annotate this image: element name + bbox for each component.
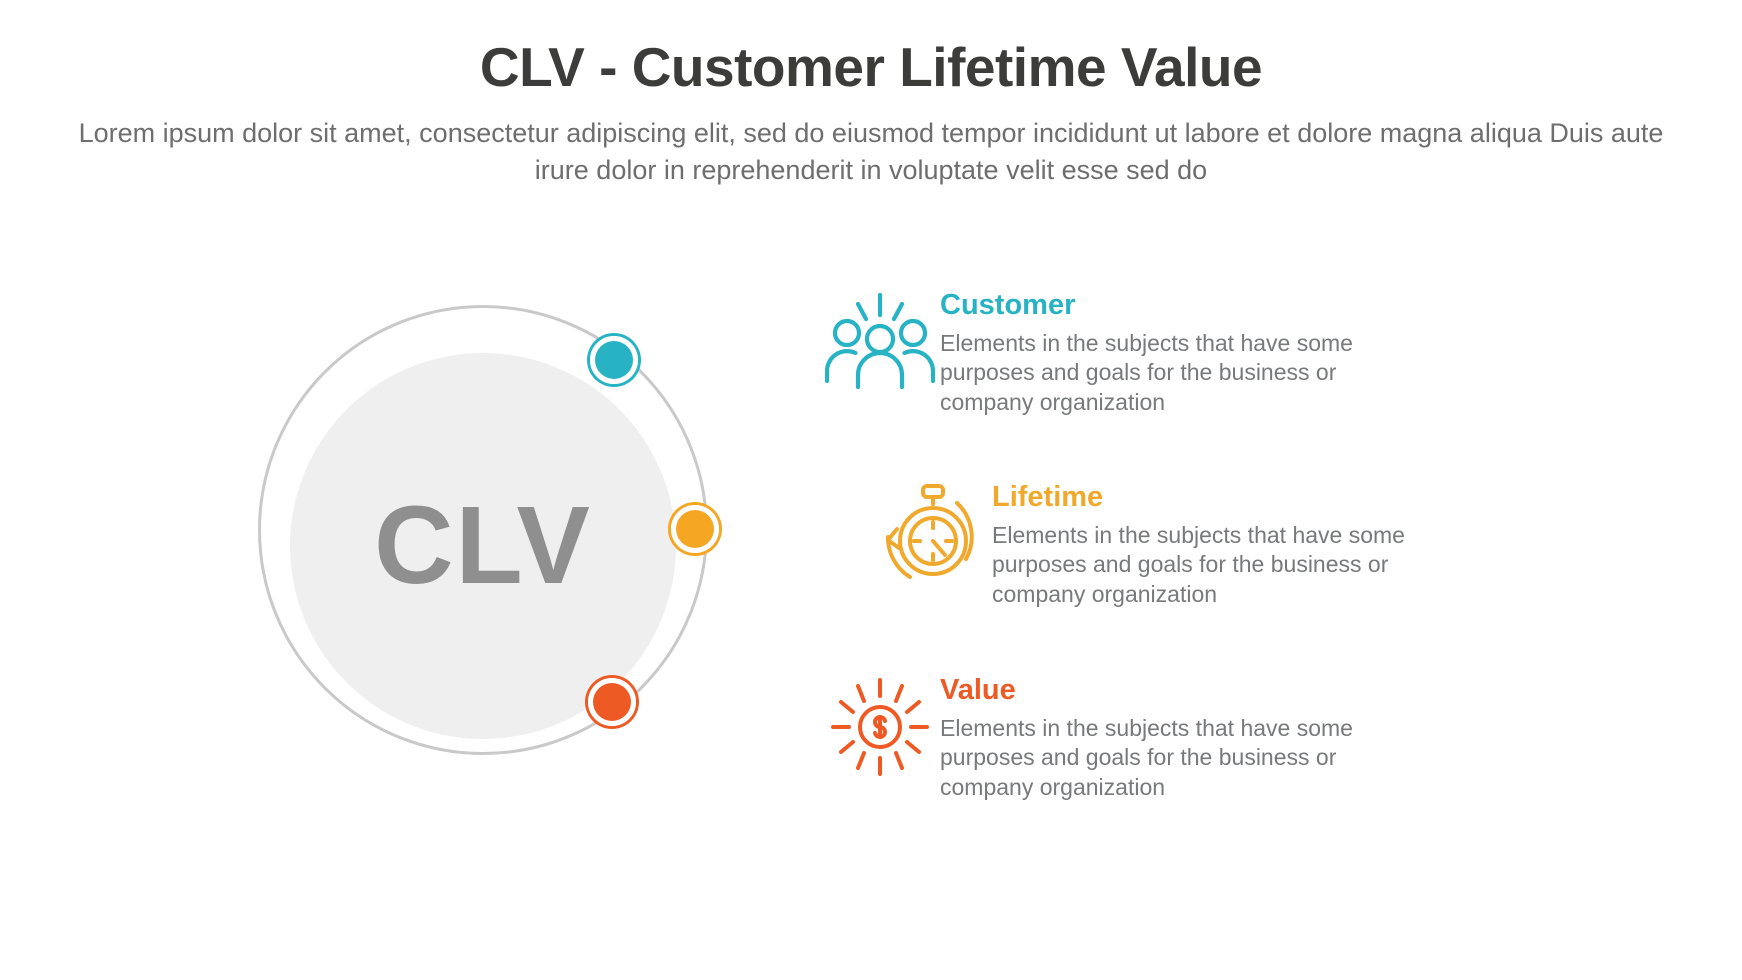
list-item-lifetime[interactable]: Lifetime Elements in the subjects that h… — [872, 474, 1632, 609]
people-group-icon — [820, 282, 940, 402]
infographic-canvas: CLV - Customer Lifetime Value Lorem ipsu… — [0, 0, 1742, 980]
list-item-customer[interactable]: Customer Elements in the subjects that h… — [820, 282, 1580, 417]
item-description: Elements in the subjects that have some … — [940, 329, 1370, 417]
item-text-customer: Customer Elements in the subjects that h… — [940, 282, 1370, 417]
customer-dot-fill — [595, 341, 633, 379]
item-description: Elements in the subjects that have some … — [940, 714, 1370, 802]
item-title: Lifetime — [992, 482, 1422, 514]
page-subtitle: Lorem ipsum dolor sit amet, consectetur … — [71, 115, 1671, 188]
clv-circle-group: CLV — [258, 305, 708, 755]
header: CLV - Customer Lifetime Value Lorem ipsu… — [0, 36, 1742, 188]
value-dot-fill — [593, 683, 631, 721]
page-title: CLV - Customer Lifetime Value — [0, 36, 1742, 99]
lifetime-dot[interactable] — [671, 505, 719, 553]
value-dot[interactable] — [588, 678, 636, 726]
item-text-value: Value Elements in the subjects that have… — [940, 667, 1370, 802]
item-title: Customer — [940, 290, 1370, 322]
center-label: CLV — [374, 491, 592, 601]
item-description: Elements in the subjects that have some … — [992, 521, 1422, 609]
list-item-value[interactable]: Value Elements in the subjects that have… — [820, 667, 1580, 802]
item-title: Value — [940, 675, 1370, 707]
lifetime-dot-fill — [676, 510, 714, 548]
dollar-sun-icon — [820, 667, 940, 787]
item-text-lifetime: Lifetime Elements in the subjects that h… — [992, 474, 1422, 609]
customer-dot[interactable] — [590, 336, 638, 384]
stopwatch-arrow-icon — [872, 474, 992, 594]
